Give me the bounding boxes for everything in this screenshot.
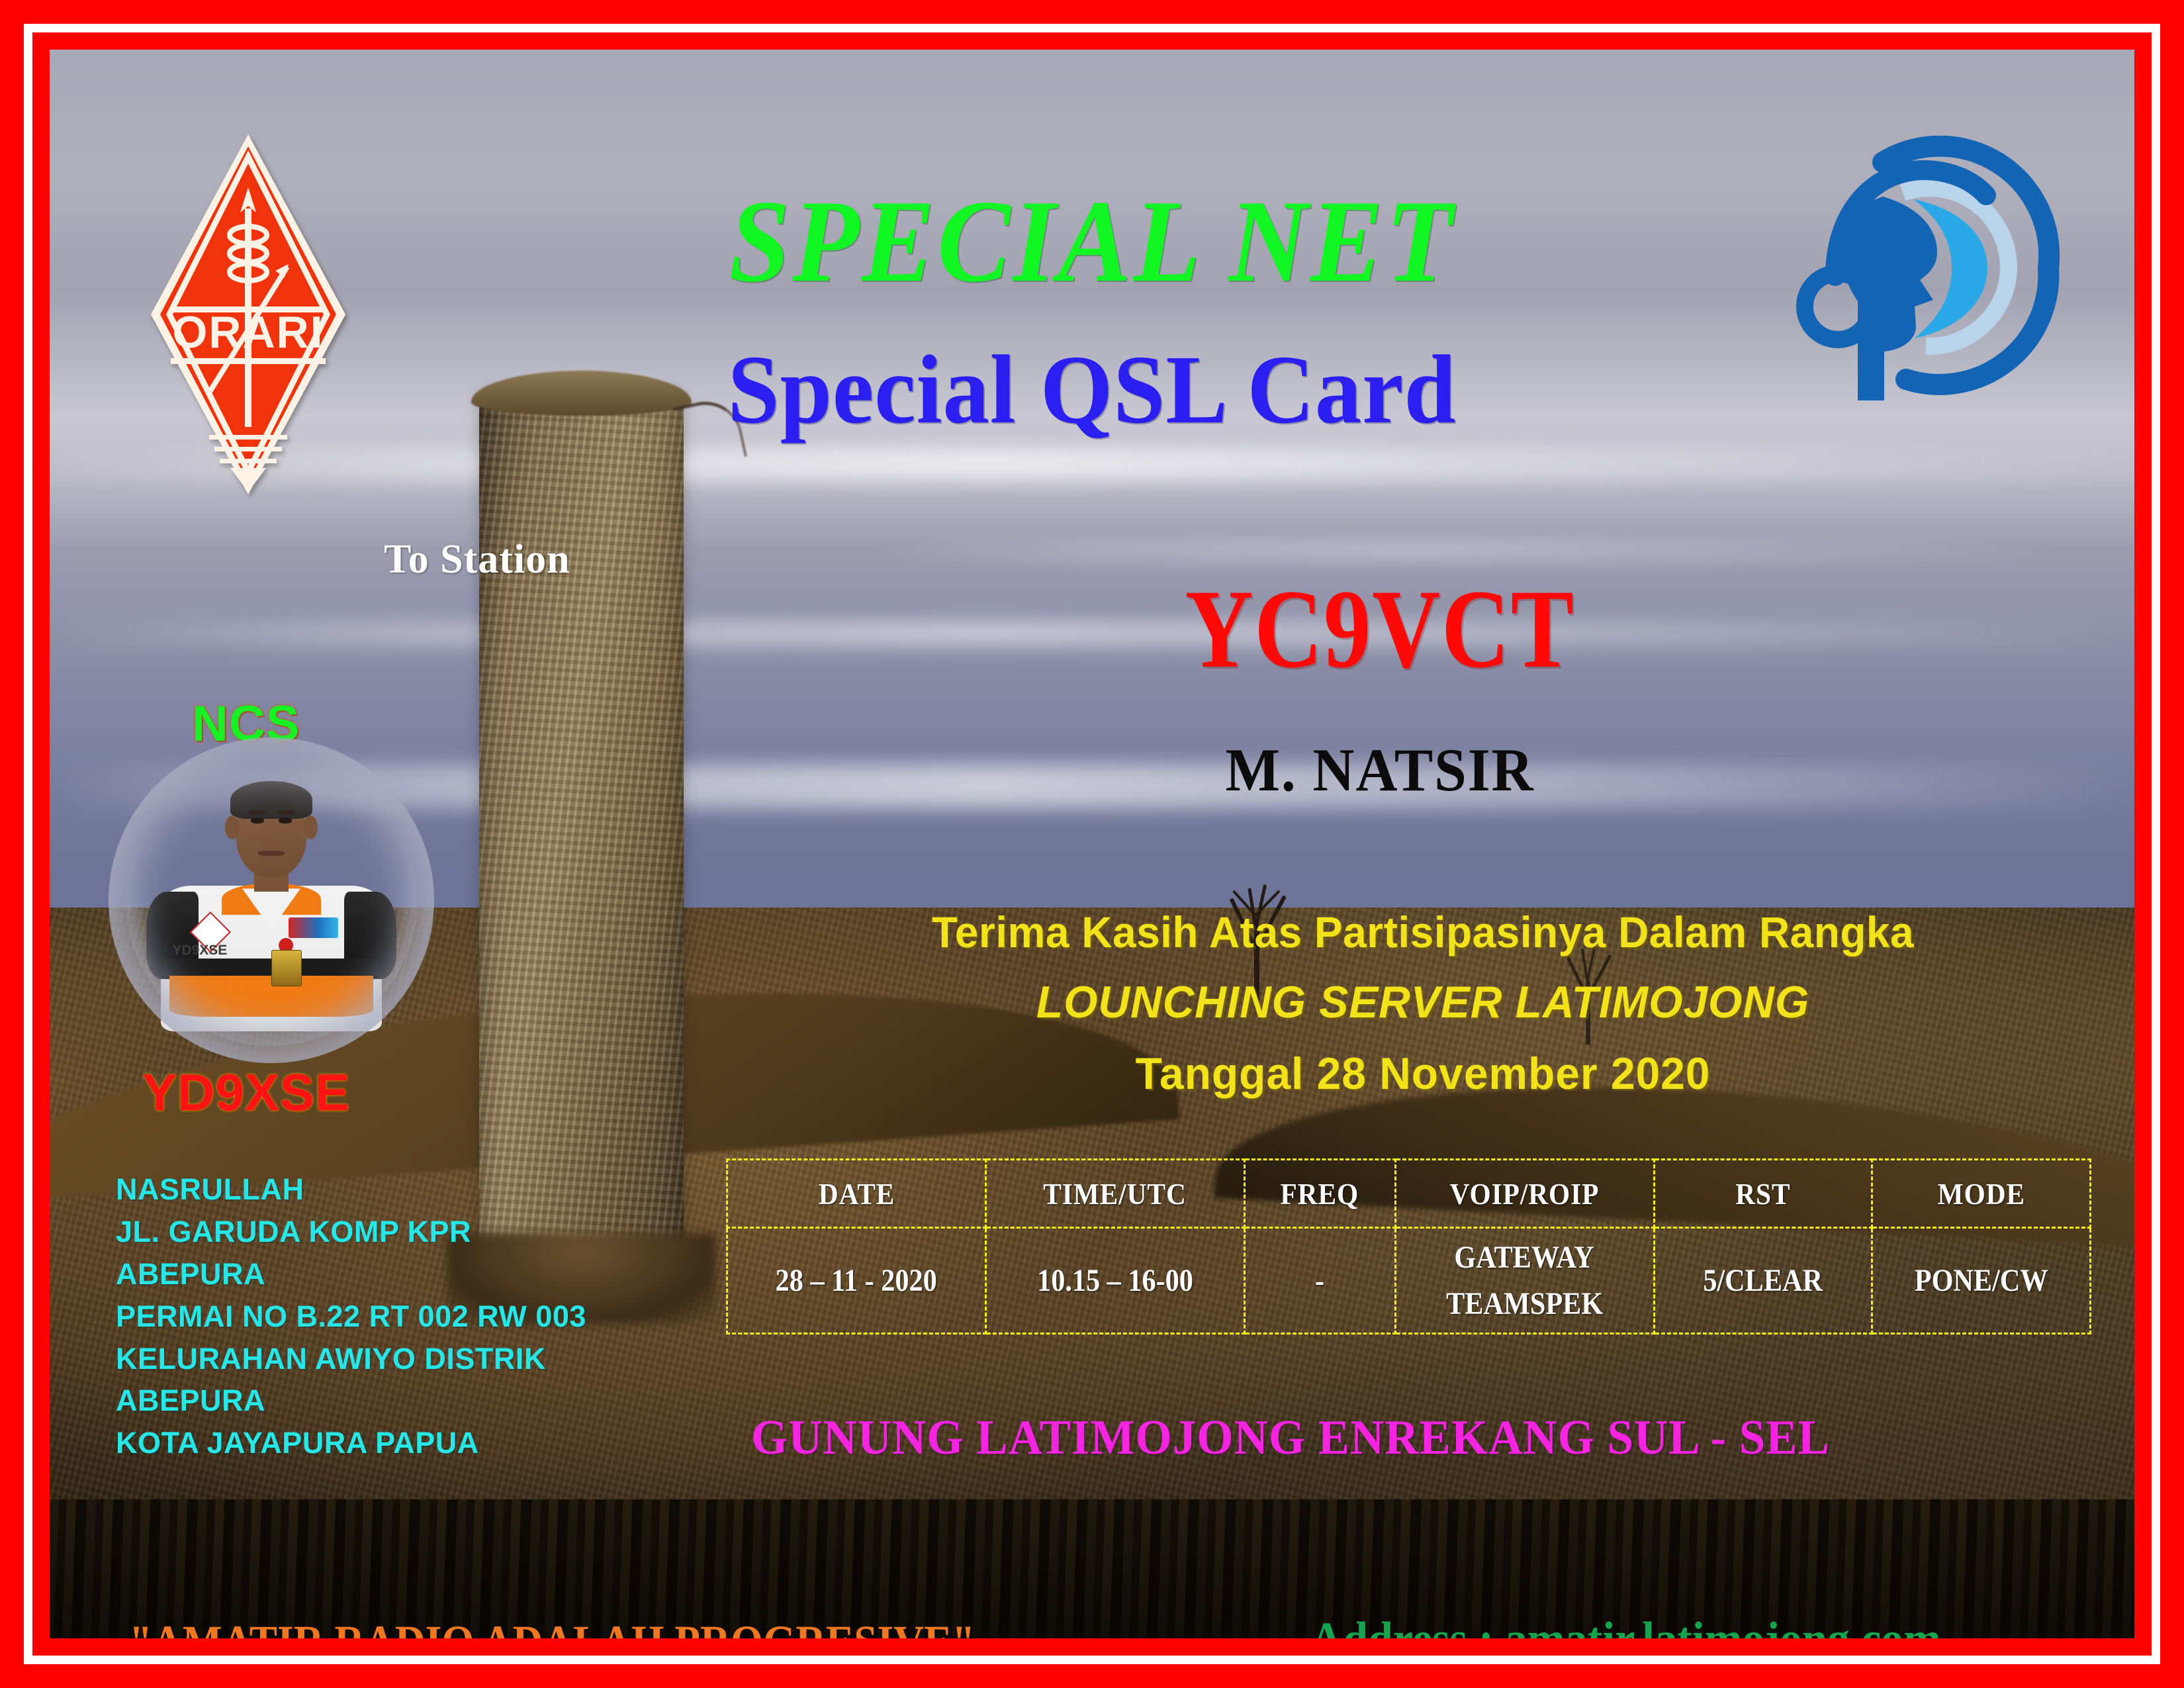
photo-shoulder-patch (289, 917, 338, 938)
table-cell-mode: PONE/CW (1872, 1228, 2091, 1334)
card-white-border: ORARI SPE (24, 24, 2160, 1664)
table-header-freq: FREQ (1252, 1160, 1388, 1228)
photo-mouth (258, 851, 285, 856)
photo-eye-left (251, 818, 264, 824)
table-header-row: DATE TIME/UTC FREQ VOIP/ROIP RST MODE (727, 1160, 2091, 1228)
photo-shirt-callsign: YD9XSE (172, 943, 227, 959)
table-cell-freq: - (1244, 1228, 1395, 1334)
ncs-label: NCS (192, 695, 300, 753)
event-date: Tanggal 28 November 2020 (797, 1048, 2049, 1100)
event-title: LOUNCHING SERVER LATIMOJONG (797, 976, 2049, 1028)
address-line: KOTA JAYAPURA PAPUA (116, 1422, 586, 1464)
address-line: KELURAHAN AWIYO DISTRIK (116, 1338, 586, 1380)
slogan-text: "AMATIR RADIO ADALAH PROGRESIVE" (129, 1615, 975, 1638)
ncs-operator-photo: YD9XSE (126, 755, 417, 1046)
station-callsign: YC9VCT (1052, 573, 1707, 685)
address-line: NASRULLAH (116, 1168, 586, 1211)
table-cell-rst-text: 5/CLEAR (1704, 1262, 1823, 1299)
photo-eyebrow-right (277, 810, 295, 815)
qso-details-table: DATE TIME/UTC FREQ VOIP/ROIP RST MODE 28… (726, 1158, 2091, 1335)
table-cell-time-text: 10.15 – 16-00 (1037, 1262, 1193, 1299)
table-header-time: TIME/UTC (999, 1160, 1232, 1228)
page-title: SPECIAL NET (122, 182, 2062, 300)
table-cell-rst: 5/CLEAR (1654, 1228, 1872, 1334)
table-cell-freq-text: - (1315, 1262, 1324, 1299)
stone-tower-monument (479, 391, 684, 1297)
card-inner-red-border: ORARI SPE (32, 32, 2152, 1656)
photo-id-card (271, 950, 302, 986)
cloud-band (884, 542, 2051, 559)
ncs-address-block: NASRULLAH JL. GARUDA KOMP KPR ABEPURA PE… (116, 1168, 586, 1464)
ncs-callsign: YD9XSE (142, 1062, 350, 1123)
address-line: JL. GARUDA KOMP KPR (116, 1211, 586, 1253)
table-cell-date: 28 – 11 - 2020 (727, 1228, 986, 1334)
table-header-voip: VOIP/ROIP (1408, 1160, 1641, 1228)
address-line: PERMAI NO B.22 RT 002 RW 003 (116, 1295, 586, 1338)
table-cell-date-text: 28 – 11 - 2020 (776, 1262, 937, 1299)
thanks-line: Terima Kasih Atas Partisipasinya Dalam R… (797, 907, 2049, 957)
table-header-mode: MODE (1883, 1160, 2079, 1228)
photo-eyebrow-left (248, 810, 265, 815)
photo-ear-left (225, 816, 240, 839)
address-line: ABEPURA (116, 1380, 586, 1422)
table-cell-voip-line1: GATEWAY (1455, 1235, 1594, 1281)
cloud-band (50, 447, 2134, 481)
photo-ear-right (303, 816, 318, 839)
address-line: ABEPURA (116, 1253, 586, 1295)
qsl-card: ORARI SPE (0, 0, 2184, 1688)
table-cell-mode-text: PONE/CW (1915, 1262, 2048, 1299)
card-photo-background: ORARI SPE (50, 50, 2134, 1638)
table-cell-time: 10.15 – 16-00 (985, 1228, 1244, 1334)
location-line: GUNUNG LATIMOJONG ENREKANG SUL - SEL (671, 1410, 1910, 1466)
photo-eye-right (279, 818, 292, 824)
table-row: 28 – 11 - 2020 10.15 – 16-00 - GATEWAY T… (727, 1228, 2091, 1334)
to-station-label: To Station (384, 536, 570, 583)
photo-hair (230, 781, 312, 819)
website-address: Address : amatir.latimojong.com (1310, 1612, 1941, 1638)
operator-name: M. NATSIR (1009, 735, 1751, 805)
table-header-date: DATE (740, 1160, 973, 1228)
table-cell-voip: GATEWAY TEAMSPEK (1395, 1228, 1654, 1334)
page-subtitle: Special QSL Card (102, 341, 2083, 439)
table-cell-voip-line2: TEAMSPEK (1446, 1281, 1603, 1327)
table-header-rst: RST (1665, 1160, 1862, 1228)
